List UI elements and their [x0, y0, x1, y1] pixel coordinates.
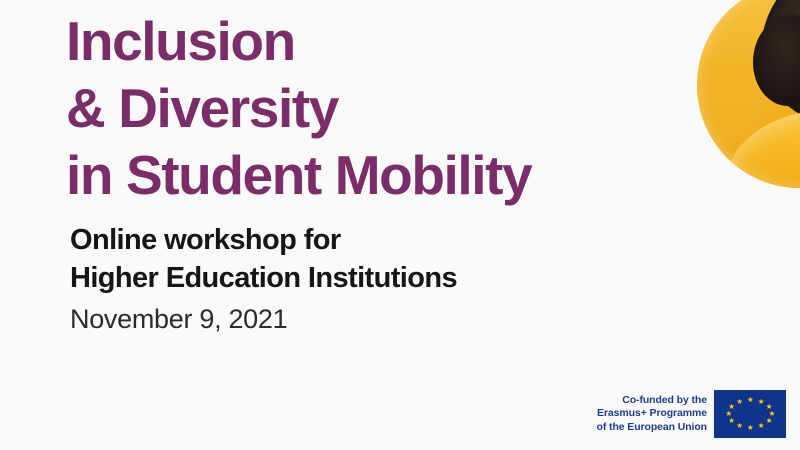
- eu-flag-star: ★: [728, 404, 734, 410]
- photo-background: [697, 0, 800, 188]
- eu-flag-star: ★: [728, 418, 734, 424]
- erasmus-logo-text: Co-funded by the Erasmus+ Programme of t…: [597, 394, 707, 435]
- subtitle-line-1: Online workshop for: [70, 221, 457, 259]
- eu-flag-icon: ★★★★★★★★★★★★: [714, 390, 786, 438]
- eu-flag-star: ★: [736, 423, 742, 429]
- photo-hair-tuft: [753, 15, 800, 106]
- erasmus-text-line-2: Erasmus+ Programme: [597, 407, 707, 421]
- portrait-photo: [697, 0, 800, 188]
- slide-title: Inclusion & Diversity in Student Mobilit…: [66, 8, 531, 209]
- photo-sweater: [726, 110, 800, 188]
- eu-flag-star: ★: [736, 399, 742, 405]
- slide-subtitle: Online workshop for Higher Education Ins…: [70, 221, 457, 336]
- erasmus-cofunding-logo: Co-funded by the Erasmus+ Programme of t…: [597, 390, 786, 438]
- eu-flag-star: ★: [747, 397, 753, 403]
- eu-flag-star: ★: [725, 411, 731, 417]
- subtitle-line-2: Higher Education Institutions: [70, 259, 457, 297]
- eu-flag-star: ★: [758, 399, 764, 405]
- title-line-1: Inclusion: [66, 8, 531, 75]
- erasmus-text-line-3: of the European Union: [597, 421, 707, 435]
- eu-flag-star: ★: [766, 418, 772, 424]
- title-line-3: in Student Mobility: [66, 142, 531, 209]
- eu-flag-star: ★: [758, 423, 764, 429]
- event-date: November 9, 2021: [70, 302, 457, 336]
- presentation-slide: Inclusion & Diversity in Student Mobilit…: [0, 0, 800, 450]
- title-line-2: & Diversity: [66, 75, 531, 142]
- erasmus-text-line-1: Co-funded by the: [597, 394, 707, 408]
- eu-flag-star: ★: [747, 425, 753, 431]
